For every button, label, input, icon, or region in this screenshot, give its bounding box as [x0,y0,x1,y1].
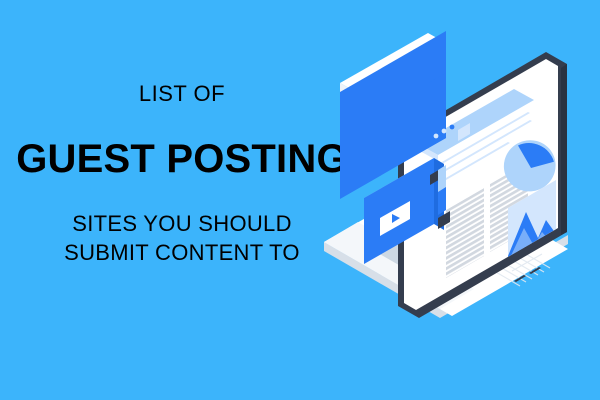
subtitle-line-2: SUBMIT CONTENT TO [0,238,364,267]
bezel-side-edge [561,64,567,235]
laptop-illustration [318,42,600,362]
kicker-text: LIST OF [0,82,364,105]
guest-posting-banner: LIST OF GUEST POSTING SITES YOU SHOULD S… [0,0,600,400]
subtitle-line-1: SITES YOU SHOULD [0,209,364,238]
page-title: GUEST POSTING [0,139,364,179]
headline-text-block: LIST OF GUEST POSTING SITES YOU SHOULD S… [0,82,364,267]
